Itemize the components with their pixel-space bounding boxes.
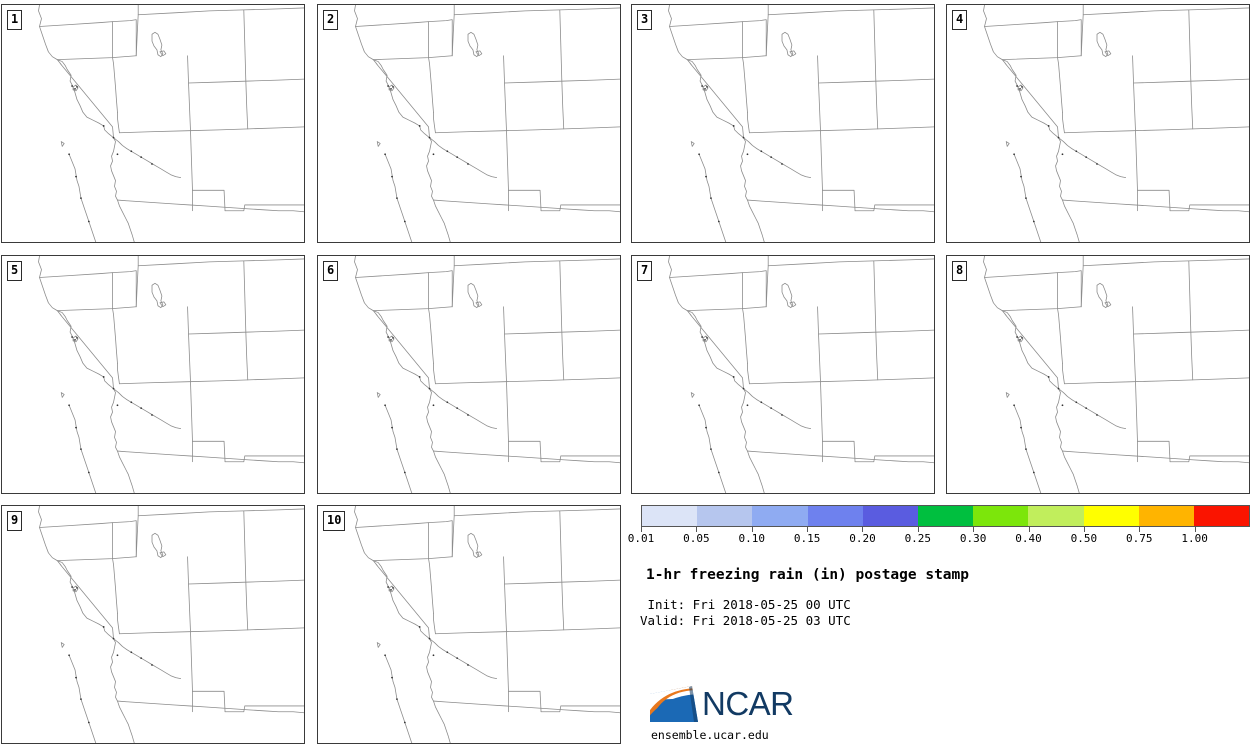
colorbar-segment-0.50 (1084, 506, 1139, 526)
stamp-panel-1[interactable]: 1 (1, 4, 305, 243)
init-time: Init: Fri 2018-05-25 00 UTC (640, 597, 851, 613)
colorbar-tick-labels: 0.010.050.100.150.200.250.300.400.500.75… (641, 532, 1250, 546)
valid-time: Valid: Fri 2018-05-25 03 UTC (640, 613, 851, 629)
colorbar-tick-label: 0.05 (683, 532, 710, 546)
map-outline (318, 506, 620, 743)
ncar-wordmark: NCAR (702, 685, 794, 723)
colorbar-segment-0.20 (863, 506, 918, 526)
colorbar-tick-label: 0.01 (628, 532, 655, 546)
panel-number-label: 3 (637, 10, 652, 30)
panel-number-label: 6 (323, 261, 338, 281)
colorbar-tick-label: 0.20 (849, 532, 876, 546)
panel-number-label: 2 (323, 10, 338, 30)
stamp-panel-9[interactable]: 9 (1, 505, 305, 744)
colorbar-segment-0.15 (808, 506, 863, 526)
colorbar-segment-0.30 (973, 506, 1028, 526)
colorbar-tick-label: 0.15 (794, 532, 821, 546)
panel-number-label: 8 (952, 261, 967, 281)
colorbar-tick-label: 0.50 (1071, 532, 1098, 546)
colorbar-tick-label: 0.40 (1015, 532, 1042, 546)
colorbar-segment-0.10 (752, 506, 807, 526)
page-title: 1-hr freezing rain (in) postage stamp (646, 567, 969, 583)
panel-number-label: 1 (7, 10, 22, 30)
stamp-panel-8[interactable]: 8 (946, 255, 1250, 494)
panel-number-label: 10 (323, 511, 345, 531)
colorbar-segment-1.00 (1194, 506, 1249, 526)
map-outline (632, 5, 934, 242)
forecast-times: Init: Fri 2018-05-25 00 UTCValid: Fri 20… (640, 597, 851, 629)
colorbar-segment-0.25 (918, 506, 973, 526)
map-outline (2, 506, 304, 743)
stamp-panel-7[interactable]: 7 (631, 255, 935, 494)
colorbar-segment-0.01 (642, 506, 697, 526)
ncar-swoosh-icon (648, 684, 703, 724)
map-outline (632, 256, 934, 493)
panel-number-label: 5 (7, 261, 22, 281)
stamp-panel-4[interactable]: 4 (946, 4, 1250, 243)
stamp-panel-2[interactable]: 2 (317, 4, 621, 243)
colorbar-tick-label: 0.75 (1126, 532, 1153, 546)
stamp-panel-3[interactable]: 3 (631, 4, 935, 243)
panel-number-label: 9 (7, 511, 22, 531)
colorbar-swatches (641, 505, 1250, 527)
colorbar-segment-0.40 (1028, 506, 1083, 526)
map-outline (2, 256, 304, 493)
ncar-url-label: ensemble.ucar.edu (651, 728, 769, 742)
stamp-panel-10[interactable]: 10 (317, 505, 621, 744)
stamp-panel-6[interactable]: 6 (317, 255, 621, 494)
panel-number-label: 7 (637, 261, 652, 281)
ncar-logo: NCAR ensemble.ucar.edu (648, 684, 798, 746)
colorbar-tick-label: 0.10 (738, 532, 765, 546)
stamp-panel-5[interactable]: 5 (1, 255, 305, 494)
colorbar-tick-label: 0.25 (905, 532, 932, 546)
colorbar-tick-label: 0.30 (960, 532, 987, 546)
colorbar-segment-0.75 (1139, 506, 1194, 526)
map-outline (2, 5, 304, 242)
colorbar-segment-0.05 (697, 506, 752, 526)
map-outline (318, 256, 620, 493)
map-outline (947, 5, 1249, 242)
colorbar: 0.010.050.100.150.200.250.300.400.500.75… (641, 505, 1250, 527)
panel-number-label: 4 (952, 10, 967, 30)
map-outline (318, 5, 620, 242)
map-outline (947, 256, 1249, 493)
colorbar-tick-label: 1.00 (1181, 532, 1208, 546)
